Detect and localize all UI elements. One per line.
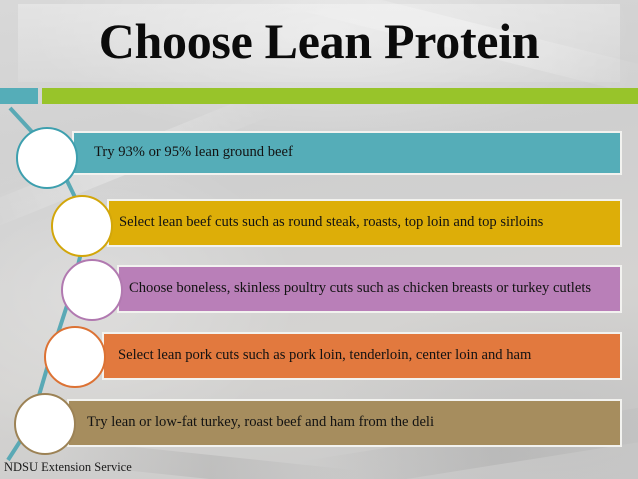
row-marker-circle [14,393,76,455]
row-bar: Select lean pork cuts such as pork loin,… [102,332,622,380]
row-bar: Try 93% or 95% lean ground beef [72,131,622,175]
slide-canvas: Choose Lean Protein Try 93% or 95% lean … [0,0,638,479]
row-text: Select lean pork cuts such as pork loin,… [104,347,537,365]
row-marker-circle [61,259,123,321]
row-marker-circle [44,326,106,388]
accent-bar-green [42,88,638,104]
row-bar: Select lean beef cuts such as round stea… [107,199,622,247]
row-text: Try 93% or 95% lean ground beef [74,144,299,162]
row-text: Choose boneless, skinless poultry cuts s… [119,280,597,298]
row-bar: Choose boneless, skinless poultry cuts s… [117,265,622,313]
footer-text: NDSU Extension Service [4,460,132,475]
row-bar: Try lean or low-fat turkey, roast beef a… [67,399,622,447]
row-marker-circle [16,127,78,189]
page-title: Choose Lean Protein [0,12,638,70]
row-text: Try lean or low-fat turkey, roast beef a… [69,414,440,432]
row-text: Select lean beef cuts such as round stea… [109,214,549,232]
accent-bar-teal [0,88,38,104]
row-marker-circle [51,195,113,257]
